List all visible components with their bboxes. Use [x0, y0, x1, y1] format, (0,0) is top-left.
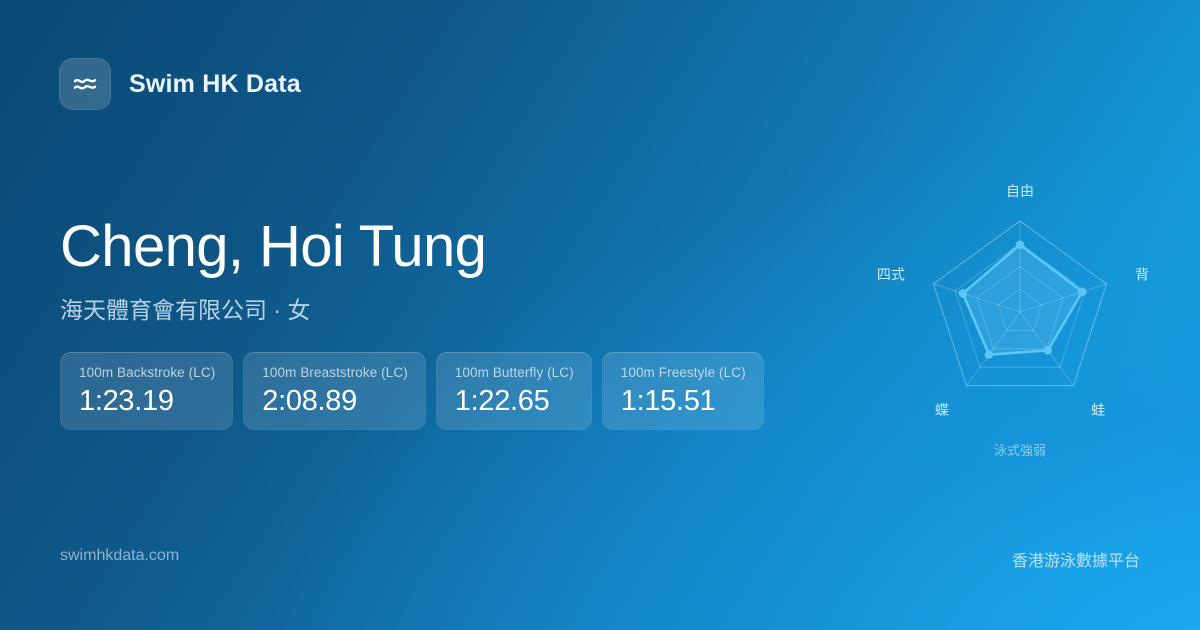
stat-value: 1:23.19 [79, 385, 215, 418]
footer-tagline: 香港游泳數據平台 [1012, 547, 1140, 571]
athlete-meta: 海天體育會有限公司 · 女 [60, 291, 860, 325]
radar-axis-label-2: 蛙 [1091, 402, 1105, 418]
radar-axis-label-3: 蝶 [935, 402, 949, 418]
stat-card-row: 100m Backstroke (LC) 1:23.19 100m Breast… [60, 352, 764, 430]
stat-value: 1:22.65 [455, 385, 574, 418]
radar-caption: 泳式強弱 [994, 443, 1046, 458]
athlete-hero: Cheng, Hoi Tung 海天體育會有限公司 · 女 [60, 216, 860, 325]
radar-axis-label-1: 背 [1135, 267, 1149, 283]
stat-card[interactable]: 100m Freestyle (LC) 1:15.51 [602, 352, 764, 430]
wave-icon [59, 58, 111, 110]
stat-value: 2:08.89 [262, 385, 408, 418]
radar-point-3 [985, 350, 993, 358]
radar-series-area [963, 245, 1082, 355]
footer-site-url[interactable]: swimhkdata.com [60, 547, 179, 565]
stat-card[interactable]: 100m Butterfly (LC) 1:22.65 [436, 352, 592, 430]
stat-card[interactable]: 100m Breaststroke (LC) 2:08.89 [243, 352, 426, 430]
radar-point-1 [1078, 288, 1086, 296]
stat-card[interactable]: 100m Backstroke (LC) 1:23.19 [60, 352, 233, 430]
radar-point-0 [1016, 240, 1024, 248]
og-card: Swim HK Data Cheng, Hoi Tung 海天體育會有限公司 ·… [0, 0, 1200, 630]
page-title: Cheng, Hoi Tung [60, 216, 860, 277]
radar-chart: 自由背蛙蝶四式 泳式強弱 [860, 165, 1180, 475]
brand-header[interactable]: Swim HK Data [59, 58, 301, 110]
stat-label: 100m Freestyle (LC) [621, 365, 746, 380]
stat-label: 100m Breaststroke (LC) [262, 365, 408, 380]
stat-label: 100m Backstroke (LC) [79, 365, 215, 380]
radar-point-2 [1044, 346, 1052, 354]
stat-value: 1:15.51 [621, 385, 746, 418]
radar-point-4 [959, 289, 967, 297]
stat-label: 100m Butterfly (LC) [455, 365, 574, 380]
radar-axis-label-0: 自由 [1006, 183, 1034, 199]
brand-name: Swim HK Data [129, 70, 301, 99]
radar-axis-label-4: 四式 [877, 267, 905, 283]
